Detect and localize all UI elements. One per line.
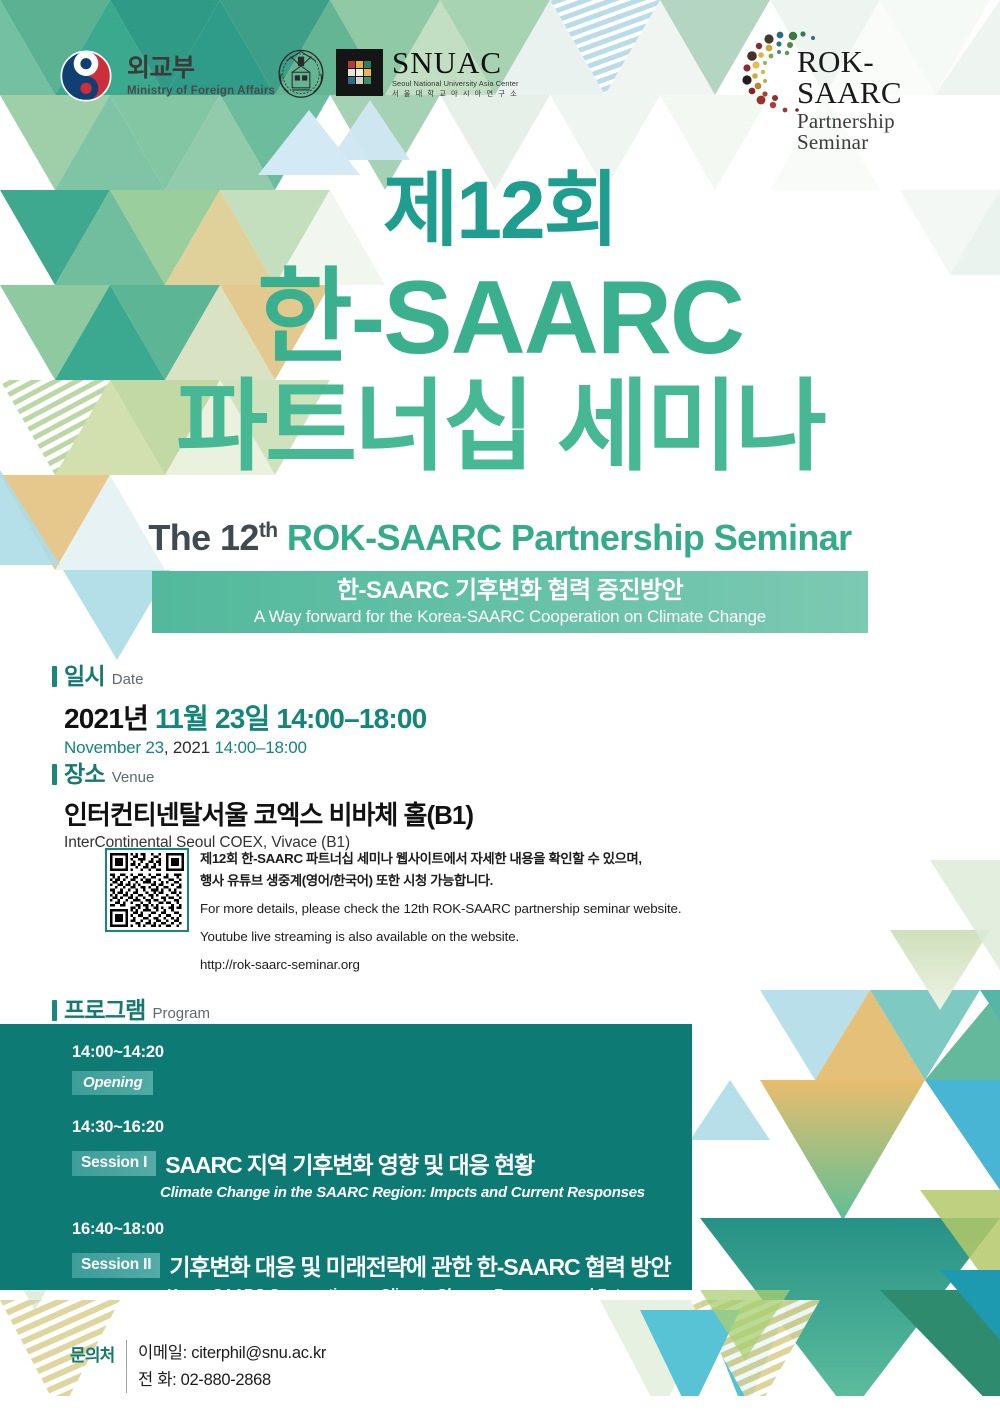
title-ordinal: 제12회: [0, 170, 1000, 252]
date-main-green: 11월 23일 14:00–18:00: [155, 703, 426, 734]
date-value: 2021년 11월 23일 14:00–18:00: [64, 697, 426, 737]
venue-label-en: Venue: [112, 769, 155, 786]
theme-kr: 한-SAARC 기후변화 협력 증진방안: [337, 577, 683, 605]
program-label-kr: 프로그램: [64, 991, 145, 1025]
title-english-prefix: The 12: [148, 517, 258, 558]
snuac-logo: SNUAC Seoul National University Asia Cen…: [275, 45, 519, 100]
qr-description: 제12회 한-SAARC 파트너십 세미나 웹사이트에서 자세한 내용을 확인할…: [200, 848, 760, 975]
theme-band: 한-SAARC 기후변화 협력 증진방안 A Way forward for t…: [152, 571, 868, 633]
snuac-mark-icon: [336, 49, 383, 96]
qr-desc-kr-1: 제12회 한-SAARC 파트너십 세미나 웹사이트에서 자세한 내용을 확인할…: [200, 848, 760, 870]
accent-bar-icon: [52, 1000, 57, 1021]
qr-code-icon: [110, 853, 184, 927]
snuac-subtitle-kr: 서 울 대 학 교 아 시 아 연 구 소: [392, 90, 519, 97]
program-title-kr-1: SAARC 지역 기후변화 영향 및 대응 현황: [165, 1146, 534, 1180]
program-heading: 프로그램 Program: [52, 991, 210, 1025]
taegeuk-icon: [58, 48, 114, 104]
title-line-1: 한-SAARC: [0, 260, 1000, 376]
program-label-en: Program: [152, 1005, 210, 1022]
title-english-superscript: th: [259, 519, 278, 542]
contact-phone: 전 화: 02-880-2868: [138, 1367, 326, 1394]
date-heading: 일시 Date: [52, 657, 426, 691]
venue-heading: 장소 Venue: [52, 755, 473, 789]
date-label-kr: 일시: [64, 657, 105, 691]
qr-code[interactable]: [105, 848, 189, 932]
snuac-name: SNUAC: [392, 48, 519, 77]
program-title-en-1: Climate Change in the SAARC Region: Impc…: [160, 1184, 645, 1201]
program-title-kr-2: 기후변화 대응 및 미래전략에 관한 한-SAARC 협력 방안: [169, 1248, 670, 1282]
rok-saarc-name: ROK-SAARC: [797, 46, 965, 108]
poster-title: 제12회 한-SAARC 파트너십 세미나: [0, 170, 1000, 482]
accent-bar-icon: [52, 666, 57, 687]
contact-section: 문의처 이메일: citerphil@snu.ac.kr 전 화: 02-880…: [70, 1340, 326, 1393]
qr-desc-en-2: Youtube live streaming is also available…: [200, 926, 760, 947]
program-time: 16:40~18:00: [72, 1220, 692, 1239]
qr-desc-kr-2: 행사 유튜브 생중계(영어/한국어) 또한 시청 가능합니다.: [200, 870, 760, 892]
program-time: 14:00~14:20: [72, 1043, 164, 1062]
mofa-name-kr: 외교부: [127, 55, 275, 81]
contact-divider: [126, 1340, 128, 1393]
contact-label: 문의처: [70, 1340, 115, 1366]
rok-saarc-logo: ROK-SAARC Partnership Seminar: [735, 26, 965, 114]
program-item-opening: 14:00~14:20 Opening: [72, 1043, 164, 1095]
contact-email[interactable]: 이메일: citerphil@snu.ac.kr: [138, 1340, 326, 1367]
title-line-2: 파트너십 세미나: [0, 372, 1000, 482]
date-label-en: Date: [112, 671, 144, 688]
date-section: 일시 Date 2021년 11월 23일 14:00–18:00 Novemb…: [52, 657, 426, 758]
venue-label-kr: 장소: [64, 755, 105, 789]
program-item-session-1: 14:30~16:20 Session I SAARC 지역 기후변화 영향 및…: [72, 1118, 645, 1201]
date-year: 2021년: [64, 703, 155, 734]
snu-crest-icon: [275, 45, 327, 100]
program-badge-session-1: Session I: [72, 1151, 156, 1176]
poster: 외교부 Ministry of Foreign Affairs: [0, 0, 1000, 1414]
seminar-url[interactable]: http://rok-saarc-seminar.org: [200, 954, 760, 975]
title-english-green: ROK-SAARC Partnership Seminar: [287, 517, 852, 558]
venue-section: 장소 Venue 인터컨티넨탈서울 코엑스 비바체 홀(B1) InterCon…: [52, 755, 473, 852]
logo-row: 외교부 Ministry of Foreign Affairs: [0, 0, 1000, 130]
program-title-en-2: Korea-SAARC Cooperation on Climate Chang…: [166, 1286, 692, 1320]
theme-en: A Way forward for the Korea-SAARC Cooper…: [254, 607, 766, 627]
venue-value-kr: 인터컨티넨탈서울 코엑스 비바체 홀(B1): [64, 795, 473, 832]
accent-bar-icon: [52, 764, 57, 785]
qr-desc-en-1: For more details, please check the 12th …: [200, 898, 760, 919]
program-badge-session-2: Session II: [72, 1253, 160, 1278]
program-badge-opening: Opening: [72, 1071, 153, 1095]
rok-saarc-subtitle: Partnership Seminar: [797, 111, 965, 153]
program-time: 14:30~16:20: [72, 1118, 645, 1137]
mofa-logo: 외교부 Ministry of Foreign Affairs: [58, 48, 275, 104]
title-english: The 12th ROK-SAARC Partnership Seminar: [0, 517, 1000, 559]
mofa-name-en: Ministry of Foreign Affairs: [127, 85, 275, 97]
snuac-subtitle-en: Seoul National University Asia Center: [392, 80, 519, 87]
program-box: 14:00~14:20 Opening 14:30~16:20 Session …: [0, 1024, 692, 1290]
program-item-session-2: 16:40~18:00 Session II 기후변화 대응 및 미래전략에 관…: [72, 1220, 692, 1320]
